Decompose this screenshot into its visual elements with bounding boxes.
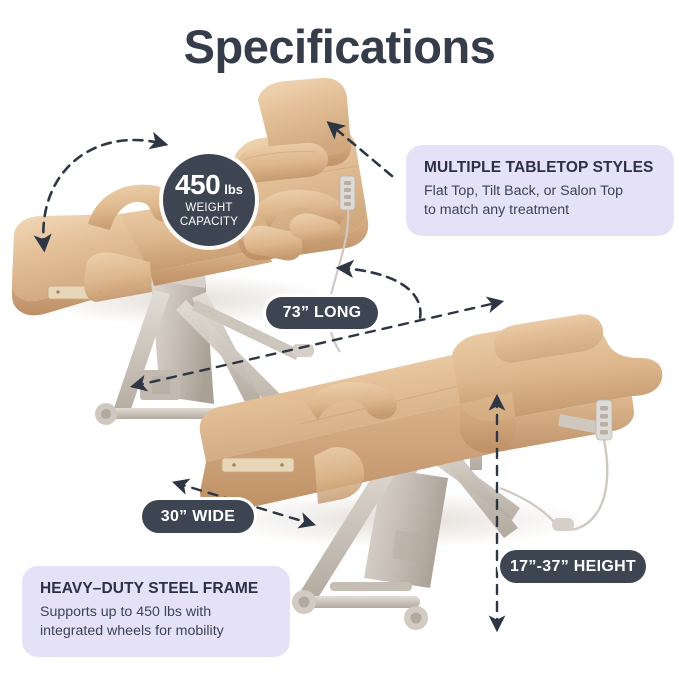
- dimension-pill-height: 17”-37” HEIGHT: [500, 550, 646, 583]
- callout-steel-frame-line2: integrated wheels for mobility: [40, 622, 272, 641]
- weight-badge-unit: lbs: [224, 183, 243, 196]
- callout-tabletop-styles-heading: MULTIPLE TABLETOP STYLES: [424, 159, 656, 177]
- weight-badge-line1: WEIGHT: [185, 202, 232, 216]
- callout-tabletop-styles-line1: Flat Top, Tilt Back, or Salon Top: [424, 182, 656, 201]
- weight-badge-line2: CAPACITY: [180, 216, 238, 230]
- dimension-pill-length: 73” LONG: [266, 297, 378, 329]
- weight-badge-value-row: 450 lbs: [175, 171, 243, 199]
- callout-tabletop-styles-line2: to match any treatment: [424, 201, 656, 220]
- specifications-infographic: Specifications: [0, 0, 679, 679]
- callout-steel-frame-line1: Supports up to 450 lbs with: [40, 603, 272, 622]
- callout-steel-frame: HEAVY–DUTY STEEL FRAME Supports up to 45…: [22, 566, 290, 657]
- callout-steel-frame-heading: HEAVY–DUTY STEEL FRAME: [40, 580, 272, 598]
- dimension-pill-width: 30” WIDE: [142, 500, 254, 533]
- callout-tabletop-styles: MULTIPLE TABLETOP STYLES Flat Top, Tilt …: [406, 145, 674, 236]
- tabletop-styles-pointer-arrow: [330, 124, 392, 176]
- tilt-range-curved-arrow: [43, 140, 164, 248]
- weight-capacity-badge: 450 lbs WEIGHT CAPACITY: [163, 154, 255, 246]
- weight-badge-number: 450: [175, 171, 220, 199]
